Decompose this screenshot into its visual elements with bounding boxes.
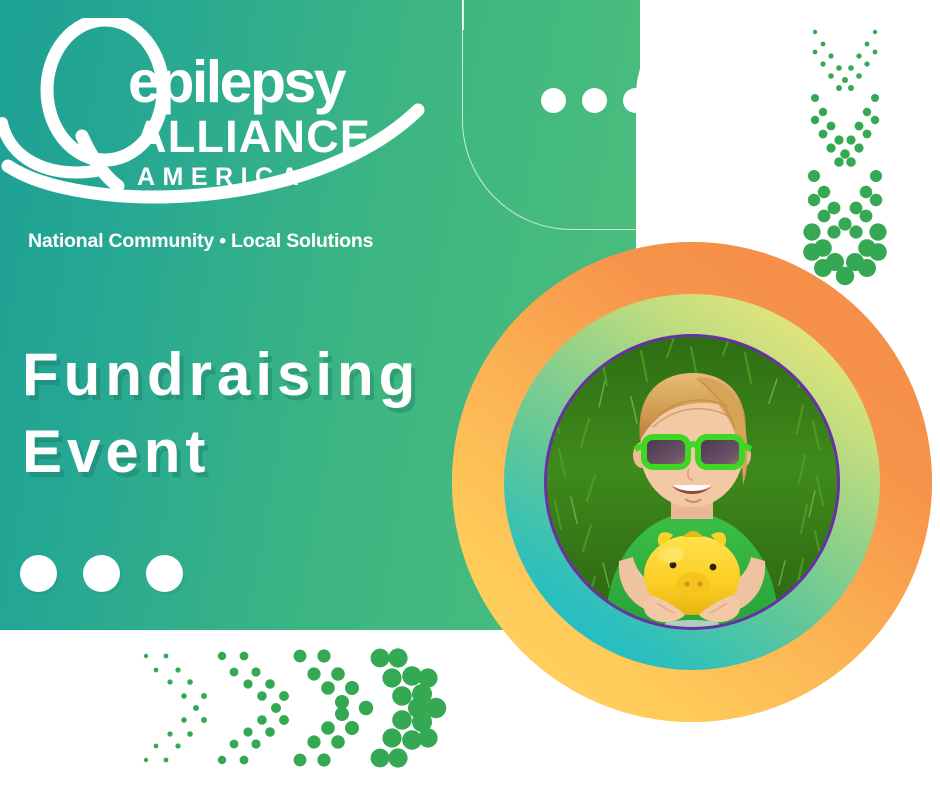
- photo-illustration: [547, 337, 837, 627]
- dot: [541, 88, 566, 113]
- dot-chevron-down-icon: [790, 26, 900, 286]
- logo-text-epilepsy: epilepsy: [128, 52, 344, 112]
- fundraising-event-flyer: epilepsy ALLIANCE AMERICA National Commu…: [0, 0, 940, 788]
- epilepsy-alliance-america-logo: epilepsy ALLIANCE AMERICA: [0, 18, 460, 208]
- dot: [146, 555, 183, 592]
- dot: [20, 555, 57, 592]
- brand-tagline: National Community • Local Solutions: [28, 230, 373, 253]
- photo-medallion: [452, 242, 932, 722]
- logo-text-alliance: ALLIANCE: [134, 114, 371, 160]
- dot: [83, 555, 120, 592]
- outline-arch-stem: [462, 0, 464, 30]
- dot: [623, 88, 648, 113]
- dot-chevron-right-pattern: [140, 648, 460, 768]
- page-title: Fundraising Event: [22, 336, 420, 490]
- child-with-piggy-bank-photo: [547, 337, 837, 627]
- dot: [582, 88, 607, 113]
- dot-chevron-right-icon: [140, 648, 460, 768]
- logo-text-america: AMERICA: [137, 164, 306, 190]
- left-dot-row: [20, 555, 183, 592]
- dot-chevron-down-pattern: [790, 26, 900, 286]
- top-dot-row: [541, 88, 648, 113]
